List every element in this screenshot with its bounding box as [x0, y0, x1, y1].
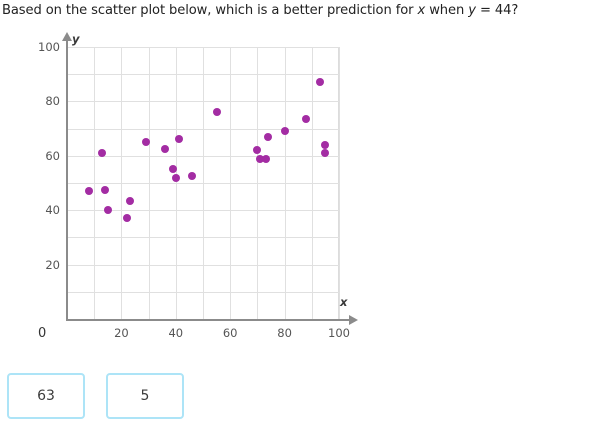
x-tick-label: 20 — [104, 326, 138, 340]
y-tick-label: 20 — [28, 258, 60, 272]
x-tick-label: 80 — [268, 326, 302, 340]
gridline-horizontal — [67, 237, 339, 238]
x-axis-arrow-icon — [349, 315, 358, 325]
gridline-horizontal — [67, 101, 339, 102]
question-middle: when — [425, 3, 468, 18]
scatter-plot: y x 20406080100 20406080100 0 — [0, 32, 400, 352]
x-axis-line — [66, 319, 351, 321]
data-point — [316, 78, 324, 86]
data-point — [161, 145, 169, 153]
answer-choice-0-label: 63 — [37, 388, 55, 404]
question-var-x: x — [417, 3, 425, 18]
data-point — [262, 155, 270, 163]
y-tick-label: 80 — [28, 94, 60, 108]
data-point — [281, 127, 289, 135]
data-point — [126, 197, 134, 205]
y-tick-label: 40 — [28, 203, 60, 217]
y-tick-label: 60 — [28, 149, 60, 163]
data-point — [188, 172, 196, 180]
answer-choice-1[interactable]: 5 — [106, 373, 184, 419]
question-var-y: y — [468, 3, 476, 18]
question-suffix: = 44? — [476, 3, 518, 18]
x-tick-label: 40 — [159, 326, 193, 340]
gridline-horizontal — [67, 292, 339, 293]
data-point — [123, 214, 131, 222]
origin-tick-label: 0 — [38, 326, 46, 341]
gridline-horizontal — [67, 183, 339, 184]
question-prefix: Based on the scatter plot below, which i… — [2, 3, 417, 18]
y-axis-line — [66, 40, 68, 321]
data-point — [321, 141, 329, 149]
gridline-horizontal — [67, 265, 339, 266]
data-point — [172, 174, 180, 182]
data-point — [104, 206, 112, 214]
data-point — [213, 108, 221, 116]
data-point — [101, 186, 109, 194]
gridline-horizontal — [67, 156, 339, 157]
answer-choice-1-label: 5 — [141, 388, 150, 404]
gridline-horizontal — [67, 74, 339, 75]
data-point — [85, 187, 93, 195]
answer-choices: 63 5 — [0, 373, 184, 419]
gridline-horizontal — [67, 47, 339, 48]
data-point — [175, 135, 183, 143]
y-tick-label: 100 — [28, 40, 60, 54]
plot-frame — [67, 47, 339, 319]
y-axis-label: y — [72, 32, 80, 46]
question-prompt: Based on the scatter plot below, which i… — [2, 2, 600, 20]
x-axis-label: x — [340, 295, 347, 309]
x-tick-label: 60 — [213, 326, 247, 340]
data-point — [302, 115, 310, 123]
data-point — [253, 146, 261, 154]
answer-choice-0[interactable]: 63 — [7, 373, 85, 419]
gridline-vertical — [339, 47, 340, 319]
x-tick-label: 100 — [322, 326, 356, 340]
data-point — [264, 133, 272, 141]
y-axis-arrow-icon — [62, 32, 72, 41]
gridline-horizontal — [67, 129, 339, 130]
